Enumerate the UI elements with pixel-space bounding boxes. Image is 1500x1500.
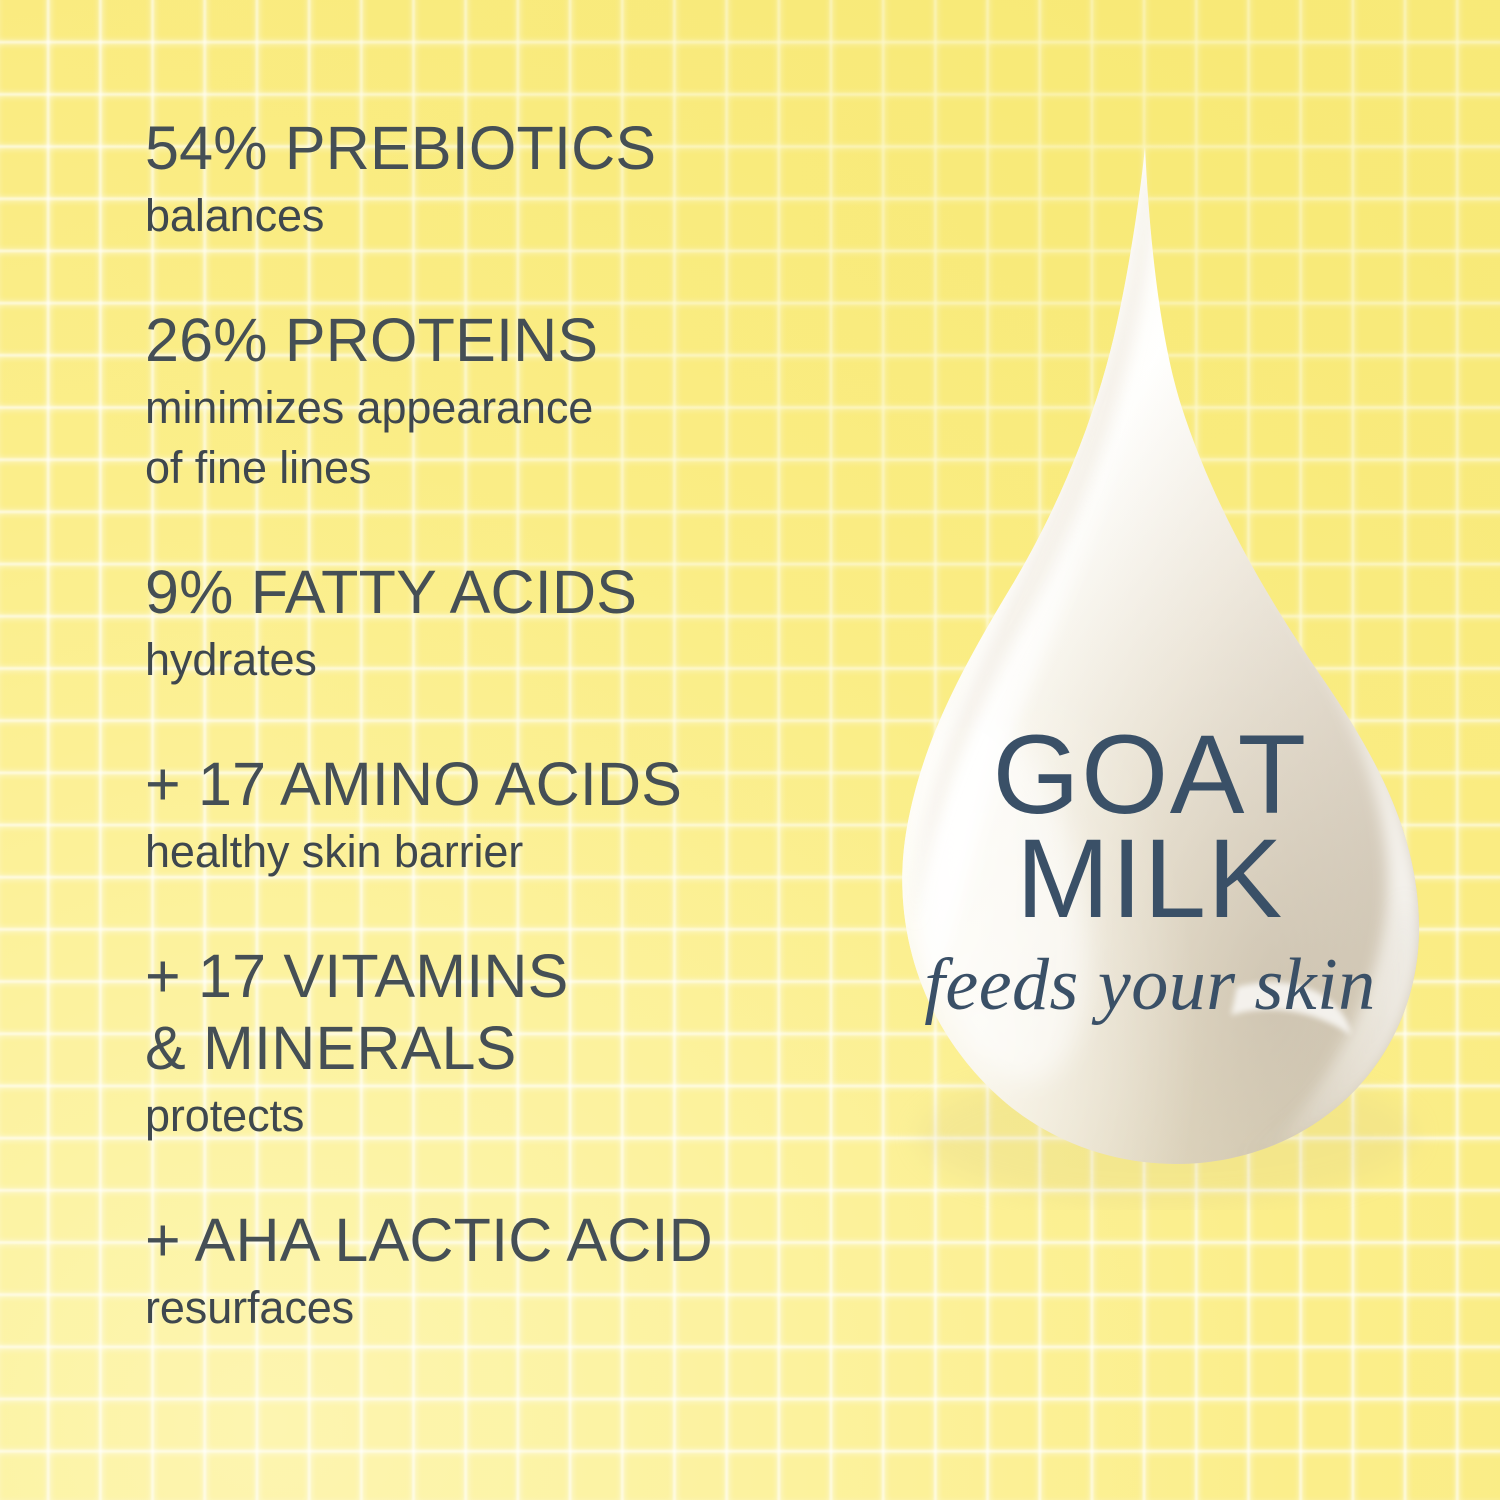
ingredient-headline: 9% FATTY ACIDS	[145, 556, 865, 628]
ingredient-benefit: hydrates	[145, 630, 865, 690]
ingredient-benefit: healthy skin barrier	[145, 822, 865, 882]
infographic-canvas: 54% PREBIOTICS balances 26% PROTEINS min…	[0, 0, 1500, 1500]
ingredient-list: 54% PREBIOTICS balances 26% PROTEINS min…	[145, 112, 865, 1338]
ingredient-item-vitamins-minerals: + 17 VITAMINS & MINERALS protects	[145, 940, 865, 1146]
milk-droplet-graphic: GOAT MILK feeds your skin	[845, 135, 1455, 1210]
ingredient-benefit: resurfaces	[145, 1278, 865, 1338]
ingredient-item-prebiotics: 54% PREBIOTICS balances	[145, 112, 865, 246]
ingredient-item-proteins: 26% PROTEINS minimizes appearance of fin…	[145, 304, 865, 498]
ingredient-item-amino-acids: + 17 AMINO ACIDS healthy skin barrier	[145, 748, 865, 882]
ingredient-benefit: minimizes appearance of fine lines	[145, 378, 865, 498]
ingredient-item-fatty-acids: 9% FATTY ACIDS hydrates	[145, 556, 865, 690]
ingredient-headline: + 17 AMINO ACIDS	[145, 748, 865, 820]
ingredient-benefit: balances	[145, 186, 865, 246]
ingredient-headline: + 17 VITAMINS & MINERALS	[145, 940, 865, 1084]
ingredient-item-aha-lactic-acid: + AHA LACTIC ACID resurfaces	[145, 1204, 865, 1338]
ingredient-headline: 26% PROTEINS	[145, 304, 865, 376]
droplet-icon	[845, 135, 1455, 1210]
ingredient-headline: 54% PREBIOTICS	[145, 112, 865, 184]
droplet-shading	[845, 135, 1455, 1210]
ingredient-headline: + AHA LACTIC ACID	[145, 1204, 865, 1276]
ingredient-benefit: protects	[145, 1086, 865, 1146]
